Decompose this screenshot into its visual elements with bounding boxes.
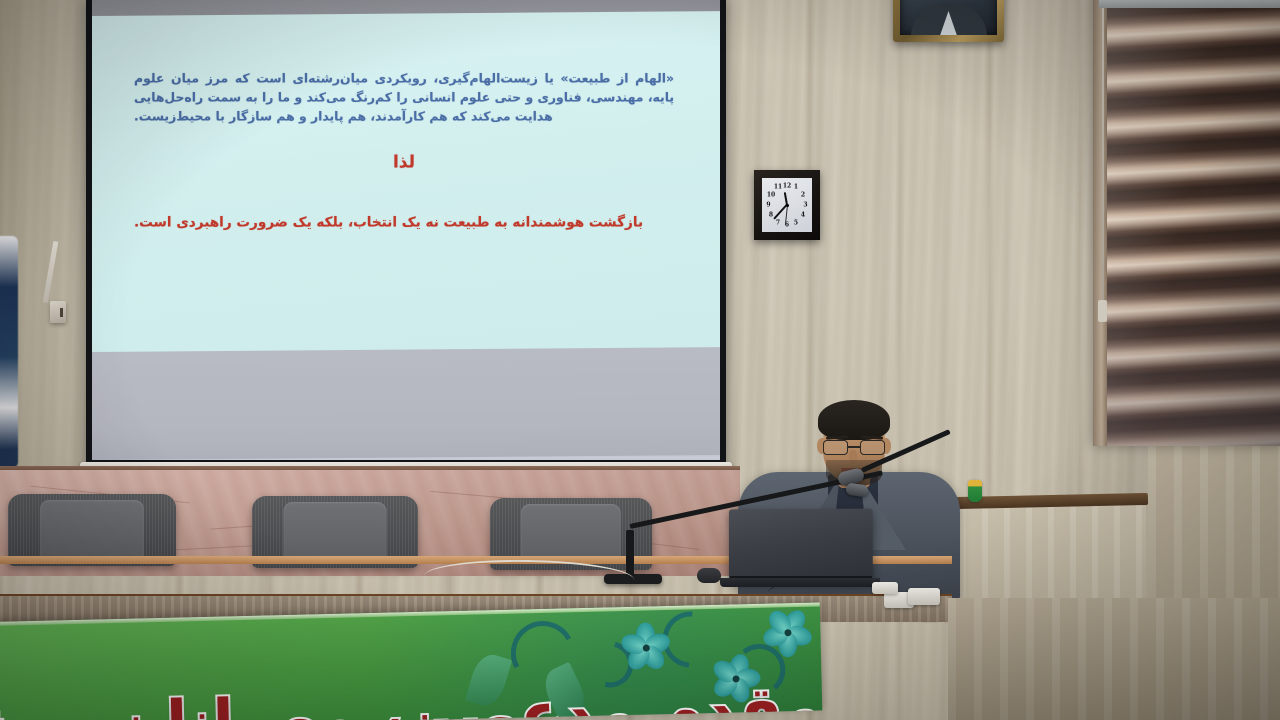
laptop-screen-lid[interactable] [729,509,873,582]
wall-fixture-slot [60,308,63,317]
framed-portrait [893,0,1004,42]
chair-headrest [40,500,144,559]
power-adapter [908,588,940,605]
lower-right-wall [948,598,1280,720]
clock-numeral-12: 12 [783,182,791,189]
clock-numeral-11: 11 [774,184,782,191]
small-flag [968,480,982,502]
projection-screen: «الهام از طبیعت» یا زیست‌الهام‌گیری، روی… [86,0,726,482]
microphone-stem [626,530,634,576]
clock-center-pin [786,204,789,207]
glasses-lens-left [823,440,848,455]
banner-flower [768,613,807,652]
clock-numeral-2: 2 [801,191,805,198]
clock-numeral-7: 7 [776,219,780,226]
projector-bottom-letterbox [92,347,720,460]
clock-numeral-9: 9 [766,202,770,209]
presentation-slide: «الهام از طبیعت» یا زیست‌الهام‌گیری، روی… [92,11,720,358]
conference-hall-photo: 12 1 2 3 4 5 6 7 8 9 10 11 «الهام از [0,0,1280,720]
wall-clock: 12 1 2 3 4 5 6 7 8 9 10 11 [754,170,820,240]
banner-headline: مقدم مدعوین، مهمانان و ش [0,671,822,720]
clock-numeral-4: 4 [801,212,805,219]
banner-flower [622,624,669,671]
window-frame [1093,0,1107,446]
glasses-lens-right [860,440,885,455]
blind-cord-weight[interactable] [1098,300,1107,322]
slide-conclusion-text: بازگشت هوشمندانه به طبیعت نه یک انتخاب، … [134,212,674,234]
chair-headrest [521,504,621,563]
wall-fixture-box [50,301,66,323]
power-adapter [872,582,898,594]
slide-body-text: «الهام از طبیعت» یا زیست‌الهام‌گیری، روی… [134,70,674,127]
portrait-photo [900,0,997,35]
slide-emphasis-word: لذا [134,152,674,172]
presenter-hair [818,400,890,440]
laptop-base[interactable] [720,578,880,587]
blind-headrail [1099,0,1280,8]
blind-cord[interactable] [1102,8,1104,308]
clock-numeral-10: 10 [767,191,775,198]
glasses-bridge [848,446,860,448]
chair-headrest [284,502,387,561]
window [1093,0,1280,446]
clock-numeral-3: 3 [803,202,807,209]
mouse[interactable] [697,568,721,583]
clock-face: 12 1 2 3 4 5 6 7 8 9 10 11 [762,178,812,232]
clock-numeral-1: 1 [794,184,798,191]
clock-numeral-5: 5 [794,219,798,226]
blind-lower-shade [1107,244,1280,446]
welcome-banner: مقدم مدعوین، مهمانان و ش [0,602,822,720]
screen-frame: «الهام از طبیعت» یا زیست‌الهام‌گیری، روی… [86,0,726,470]
left-edge-object [0,236,18,468]
screen-surface: «الهام از طبیعت» یا زیست‌الهام‌گیری، روی… [92,0,720,460]
